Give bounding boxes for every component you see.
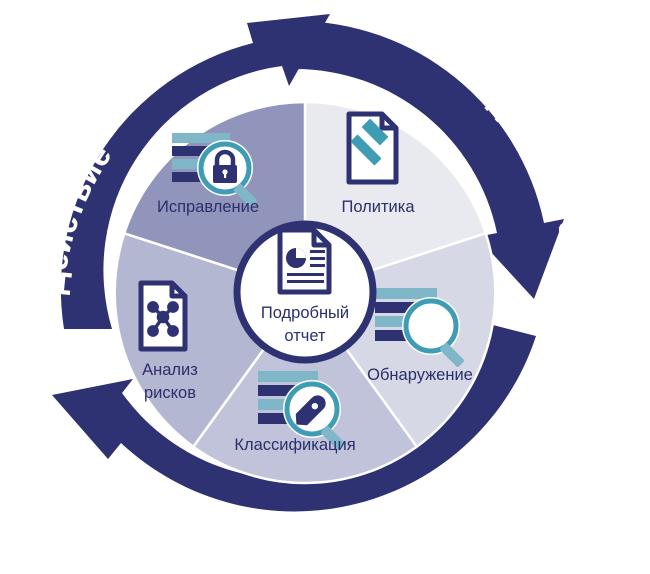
center-label-line2: отчет — [284, 327, 326, 345]
center-hub[interactable]: Подробный отчет — [237, 224, 373, 360]
discovery-label: Обнаружение — [367, 366, 473, 384]
lifecycle-wheel-svg: Осведомленность Оповещение Действие — [0, 0, 650, 574]
svg-text:010101010: 010101010 — [408, 322, 454, 332]
policy-label: Политика — [341, 198, 415, 216]
svg-text:0101010: 0101010 — [411, 332, 447, 342]
risk-analysis-label-line1: Анализ — [142, 361, 198, 379]
remediation-label: Исправление — [157, 198, 259, 216]
classification-label: Классификация — [234, 436, 355, 454]
diagram-canvas: Осведомленность Оповещение Действие — [0, 0, 650, 574]
network-document-icon — [141, 283, 185, 349]
risk-analysis-label-line2: рисков — [144, 384, 196, 402]
gavel-document-icon — [349, 114, 396, 182]
center-label-line1: Подробный — [261, 304, 349, 322]
svg-text:01010101: 01010101 — [411, 312, 452, 322]
report-document-icon — [280, 230, 329, 292]
